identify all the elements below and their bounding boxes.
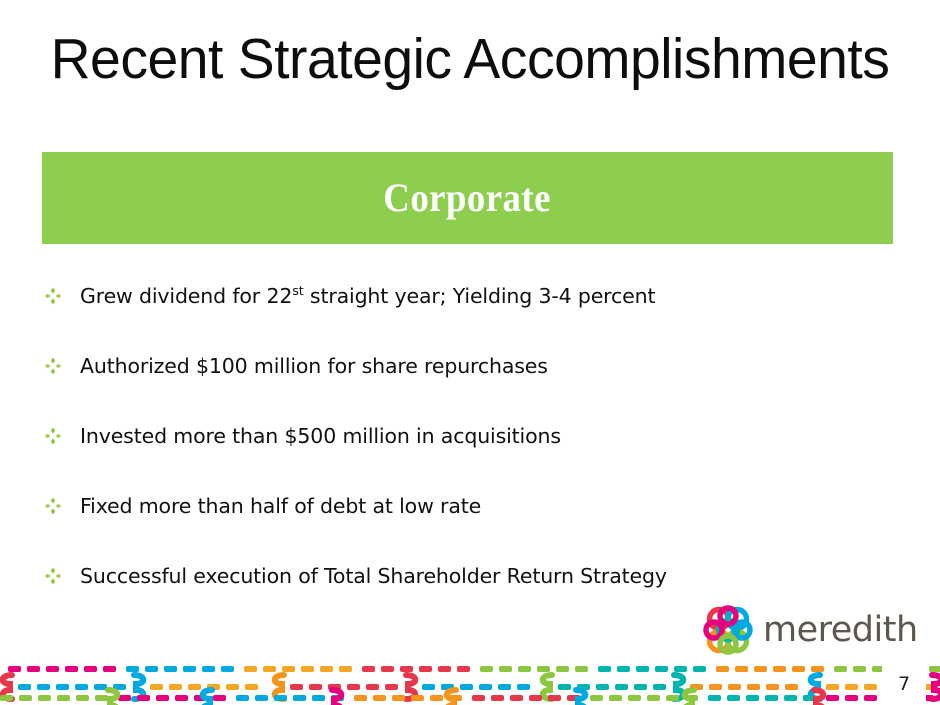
page-title: Recent Strategic Accomplishments [14, 26, 926, 92]
list-item: Grew dividend for 22st straight year; Yi… [44, 282, 904, 352]
list-item: Fixed more than half of debt at low rate [44, 492, 904, 562]
clover-diamond-bullet-icon [44, 352, 80, 375]
page-number: 7 [882, 662, 926, 705]
list-item: Authorized $100 million for share repurc… [44, 352, 904, 422]
list-item-label: Fixed more than half of debt at low rate [80, 492, 481, 520]
section-banner: Corporate [42, 152, 893, 244]
list-item: Invested more than $500 million in acqui… [44, 422, 904, 492]
clover-diamond-bullet-icon [44, 422, 80, 445]
bottom-decorative-band [0, 662, 940, 705]
clover-diamond-bullet-icon [44, 562, 80, 585]
meredith-wordmark: meredith [763, 612, 918, 648]
list-item-label: Grew dividend for 22st straight year; Yi… [80, 282, 655, 310]
list-item-label: Successful execution of Total Shareholde… [80, 562, 667, 590]
clover-diamond-bullet-icon [44, 492, 80, 515]
clover-diamond-bullet-icon [44, 282, 80, 305]
list-item-label: Authorized $100 million for share repurc… [80, 352, 548, 380]
bullet-list: Grew dividend for 22st straight year; Yi… [44, 282, 904, 632]
section-banner-label: Corporate [384, 176, 552, 220]
list-item-label: Invested more than $500 million in acqui… [80, 422, 561, 450]
meredith-logo: meredith [700, 603, 912, 657]
meredith-knot-icon [700, 604, 756, 656]
